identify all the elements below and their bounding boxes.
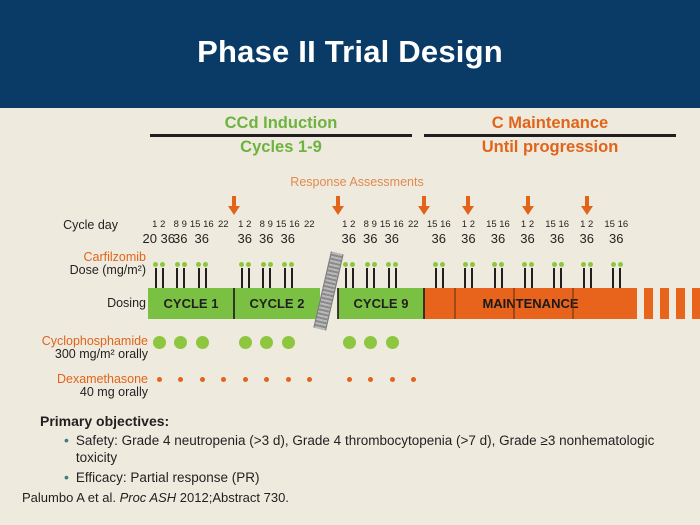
dose-stem: [612, 268, 614, 288]
dose-number: 36: [373, 231, 411, 246]
dosing-bar-label: CYCLE 9: [338, 288, 424, 319]
cyclophosphamide-dot: [174, 336, 187, 349]
cyclophosphamide-dot: [364, 336, 377, 349]
objective-item: •Efficacy: Partial response (PR): [40, 469, 670, 486]
dose-stem: [464, 268, 466, 288]
response-assessments-label: Response Assessments: [232, 175, 482, 189]
dose-marker-dot: [203, 262, 208, 267]
induction-subtitle: Cycles 1-9: [150, 138, 412, 157]
citation: Palumbo A et al. Proc ASH 2012;Abstract …: [22, 490, 289, 505]
cycle-day-number: 22: [292, 219, 326, 230]
dose-stem: [373, 268, 375, 288]
dose-stem: [524, 268, 526, 288]
response-assessment-arrow: [522, 196, 534, 216]
citation-author: Palumbo A et al.: [22, 490, 120, 505]
dose-stem: [352, 268, 354, 288]
dose-stem: [269, 268, 271, 288]
dose-marker-dot: [372, 262, 377, 267]
dose-stem: [590, 268, 592, 288]
dose-stem: [531, 268, 533, 288]
dose-marker-dot: [581, 262, 586, 267]
dose-stem: [366, 268, 368, 288]
dose-marker-dot: [160, 262, 165, 267]
dose-stem: [442, 268, 444, 288]
dose-stem: [241, 268, 243, 288]
dose-marker-dot: [261, 262, 266, 267]
dexamethasone-dot: [264, 377, 269, 382]
dose-stem: [388, 268, 390, 288]
dose-marker-dot: [246, 262, 251, 267]
arrow-head: [462, 206, 474, 215]
maintenance-bar-label: MAINTENANCE: [424, 288, 637, 319]
dose-marker-dot: [463, 262, 468, 267]
dosing-bar-label: CYCLE 2: [234, 288, 320, 319]
dose-units-label: Dose (mg/m²): [10, 263, 146, 277]
objectives-title: Primary objectives:: [40, 413, 670, 429]
dose-marker-dot: [350, 262, 355, 267]
dose-marker-dot: [268, 262, 273, 267]
dose-stem: [291, 268, 293, 288]
cyclophosphamide-dot: [239, 336, 252, 349]
arrow-head: [522, 206, 534, 215]
induction-rule: [150, 134, 412, 137]
dose-marker-dot: [492, 262, 497, 267]
dose-marker-dot: [618, 262, 623, 267]
dose-marker-dot: [365, 262, 370, 267]
maintenance-cycle-divider: [454, 288, 456, 319]
cyclophosphamide-dot: [260, 336, 273, 349]
dose-stem: [395, 268, 397, 288]
dexamethasone-dot: [243, 377, 248, 382]
cycle-day-number: 15 16: [599, 219, 633, 230]
primary-objectives-block: Primary objectives: •Safety: Grade 4 neu…: [40, 413, 670, 486]
dose-stem: [284, 268, 286, 288]
dexamethasone-dot: [286, 377, 291, 382]
dose-number: 36: [269, 231, 307, 246]
phase-header-maintenance: C Maintenance Until progression: [424, 114, 676, 157]
arrow-head: [581, 206, 593, 215]
induction-maintenance-divider: [423, 288, 425, 319]
dose-marker-dot: [393, 262, 398, 267]
dose-marker-dot: [588, 262, 593, 267]
cycle-day-label: Cycle day: [38, 218, 118, 232]
dose-stem: [583, 268, 585, 288]
dose-number: 36: [183, 231, 221, 246]
dexamethasone-dose-label: 40 mg orally: [8, 385, 148, 399]
maintenance-continuation-stripe: [644, 288, 653, 319]
dose-stem: [560, 268, 562, 288]
dose-stem: [435, 268, 437, 288]
dose-marker-dot: [440, 262, 445, 267]
dose-stem: [248, 268, 250, 288]
dose-number: 36: [597, 231, 635, 246]
dexamethasone-dot: [157, 377, 162, 382]
dose-marker-dot: [196, 262, 201, 267]
dose-marker-dot: [611, 262, 616, 267]
cyclophosphamide-dose-label: 300 mg/m² orally: [8, 347, 148, 361]
dose-stem: [471, 268, 473, 288]
cyclophosphamide-dot: [282, 336, 295, 349]
page-title: Phase II Trial Design: [0, 34, 700, 70]
citation-journal: Proc ASH: [120, 490, 177, 505]
dose-stem: [501, 268, 503, 288]
carfilzomib-label: Carfilzomib: [10, 250, 146, 264]
dose-marker-dot: [433, 262, 438, 267]
dose-stem: [162, 268, 164, 288]
objective-item: •Safety: Grade 4 neutropenia (>3 d), Gra…: [40, 432, 670, 466]
response-assessment-arrow: [462, 196, 474, 216]
cycle-divider: [233, 288, 235, 319]
objective-text: Safety: Grade 4 neutropenia (>3 d), Grad…: [76, 432, 670, 466]
dose-stem: [205, 268, 207, 288]
dose-marker-dot: [559, 262, 564, 267]
dose-marker-dot: [239, 262, 244, 267]
citation-rest: 2012;Abstract 730.: [176, 490, 289, 505]
dexamethasone-dot: [368, 377, 373, 382]
dexamethasone-dot: [221, 377, 226, 382]
phase-header-induction: CCd Induction Cycles 1-9: [150, 114, 412, 157]
dexamethasone-dot: [347, 377, 352, 382]
dose-marker-dot: [529, 262, 534, 267]
dose-stem: [183, 268, 185, 288]
maintenance-title: C Maintenance: [424, 114, 676, 133]
maintenance-continuation-stripe: [692, 288, 700, 319]
dosing-bar-label: CYCLE 1: [148, 288, 234, 319]
cycle-divider: [337, 288, 339, 319]
cyclophosphamide-dot: [386, 336, 399, 349]
title-banner: Phase II Trial Design: [0, 0, 700, 108]
dose-marker-dot: [289, 262, 294, 267]
dose-marker-dot: [182, 262, 187, 267]
maintenance-subtitle: Until progression: [424, 138, 676, 157]
induction-title: CCd Induction: [150, 114, 412, 133]
dose-stem: [345, 268, 347, 288]
cyclophosphamide-dot: [196, 336, 209, 349]
maintenance-rule: [424, 134, 676, 137]
response-assessment-arrow: [581, 196, 593, 216]
objectives-list: •Safety: Grade 4 neutropenia (>3 d), Gra…: [40, 432, 670, 486]
dose-marker-dot: [153, 262, 158, 267]
dexamethasone-label: Dexamethasone: [8, 372, 148, 386]
bullet-icon: •: [64, 469, 69, 486]
dose-stem: [198, 268, 200, 288]
arrow-head: [418, 206, 430, 215]
dose-marker-dot: [282, 262, 287, 267]
maintenance-continuation-stripe: [676, 288, 685, 319]
dose-marker-dot: [386, 262, 391, 267]
dose-stem: [176, 268, 178, 288]
bullet-icon: •: [64, 432, 69, 466]
cyclophosphamide-dot: [343, 336, 356, 349]
cyclophosphamide-label: Cyclophosphamide: [8, 334, 148, 348]
dose-stem: [262, 268, 264, 288]
maintenance-continuation-stripe: [660, 288, 669, 319]
arrow-head: [228, 206, 240, 215]
dose-stem: [155, 268, 157, 288]
arrow-head: [332, 206, 344, 215]
response-assessment-arrow: [228, 196, 240, 216]
dose-marker-dot: [552, 262, 557, 267]
dose-marker-dot: [499, 262, 504, 267]
dexamethasone-dot: [307, 377, 312, 382]
response-assessment-arrow: [418, 196, 430, 216]
dose-marker-dot: [522, 262, 527, 267]
dexamethasone-dot: [200, 377, 205, 382]
objective-text: Efficacy: Partial response (PR): [76, 469, 260, 486]
cyclophosphamide-dot: [153, 336, 166, 349]
dose-marker-dot: [175, 262, 180, 267]
dose-marker-dot: [343, 262, 348, 267]
dose-stem: [494, 268, 496, 288]
maintenance-cycle-divider: [572, 288, 574, 319]
maintenance-cycle-divider: [513, 288, 515, 319]
response-assessment-arrow: [332, 196, 344, 216]
dexamethasone-dot: [178, 377, 183, 382]
dexamethasone-dot: [390, 377, 395, 382]
dose-marker-dot: [470, 262, 475, 267]
dose-stem: [619, 268, 621, 288]
dose-stem: [553, 268, 555, 288]
dexamethasone-dot: [411, 377, 416, 382]
dosing-label: Dosing: [40, 296, 146, 310]
